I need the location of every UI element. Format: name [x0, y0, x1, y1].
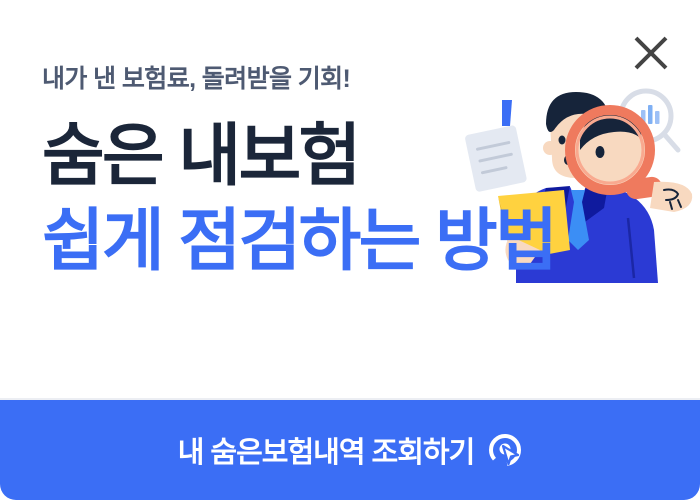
close-button[interactable]: [628, 30, 674, 76]
cta-button[interactable]: 내 숨은보험내역 조회하기: [0, 400, 700, 500]
cursor-click-icon: [488, 433, 522, 467]
headline-line-1: 숨은 내보험: [42, 116, 555, 198]
headline-line-2: 쉽게 점검하는 방법: [42, 201, 555, 283]
headline-block: 내가 낸 보험료, 돌려받을 기회! 숨은 내보험 쉽게 점검하는 방법: [42, 66, 555, 283]
insurance-promo-banner: 내가 낸 보험료, 돌려받을 기회! 숨은 내보험 쉽게 점검하는 방법: [0, 0, 700, 500]
eyebrow-text: 내가 낸 보험료, 돌려받을 기회!: [42, 66, 555, 94]
cta-label: 내 숨은보험내역 조회하기: [178, 429, 475, 471]
